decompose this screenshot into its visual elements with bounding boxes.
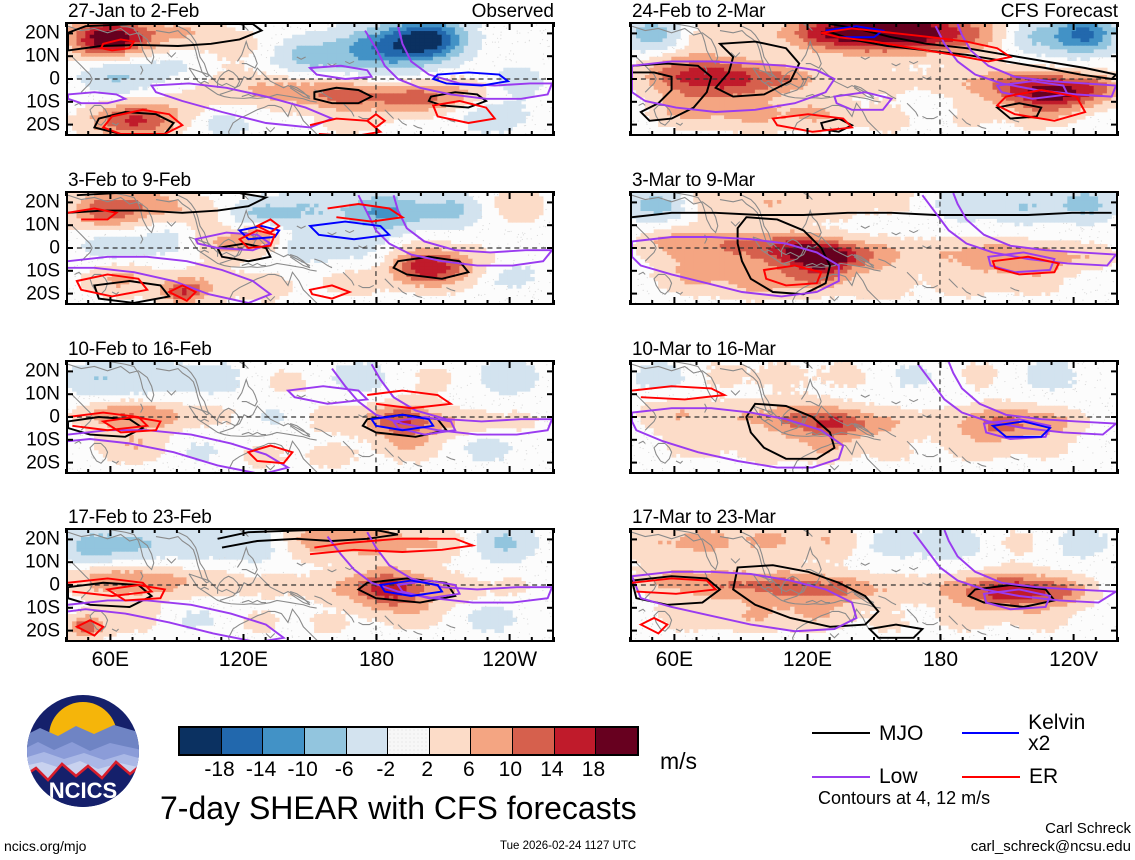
colorbar-swatch bbox=[555, 728, 597, 754]
map-panel: 10-Mar to 16-Mar bbox=[630, 360, 1118, 474]
y-axis-tick-label: 0 bbox=[2, 70, 60, 89]
x-axis-tick-label: 120E bbox=[219, 649, 268, 670]
map-plot-area bbox=[630, 360, 1118, 474]
legend-label: ER bbox=[1029, 766, 1058, 787]
map-plot-area bbox=[66, 360, 554, 474]
ncics-logo: NCICS bbox=[24, 692, 142, 810]
y-axis-tick-label: 0 bbox=[2, 408, 60, 427]
map-panel: 24-Feb to 2-MarCFS Forecast bbox=[630, 22, 1118, 136]
shear-field bbox=[68, 193, 552, 303]
y-axis-tick-label: 10N bbox=[2, 47, 60, 66]
legend-entry-er: ER bbox=[962, 766, 1112, 787]
colorbar-swatch bbox=[471, 728, 513, 754]
colorbar-swatch bbox=[388, 728, 430, 754]
colorbar-swatch bbox=[305, 728, 347, 754]
y-axis-tick-label: 20N bbox=[2, 530, 60, 549]
map-panel: 10-Feb to 16-Feb20N10N010S20S bbox=[66, 360, 554, 474]
author-email: carl_schreck@ncsu.edu bbox=[971, 838, 1131, 855]
panel-title: 10-Mar to 16-Mar bbox=[632, 339, 776, 361]
colorbar-tick-label: -10 bbox=[287, 758, 317, 782]
y-axis-tick-label: 0 bbox=[2, 576, 60, 595]
mjo-line-icon bbox=[812, 732, 870, 734]
colorbar-swatch bbox=[347, 728, 389, 754]
colorbar-swatch bbox=[513, 728, 555, 754]
x-axis-tick-label: 60E bbox=[92, 649, 129, 670]
y-axis-tick-label: 10S bbox=[2, 430, 60, 449]
y-axis-tick-label: 20N bbox=[2, 24, 60, 43]
map-plot-area bbox=[630, 22, 1118, 136]
colorbar-tick-label: -2 bbox=[376, 758, 395, 782]
map-panel: 27-Jan to 2-FebObserved20N10N010S20S bbox=[66, 22, 554, 136]
colorbar-tick-label: -6 bbox=[335, 758, 354, 782]
map-plot-area bbox=[66, 528, 554, 642]
y-axis-tick-label: 20N bbox=[2, 193, 60, 212]
colorbar-tick-label: 14 bbox=[540, 758, 563, 782]
map-plot-area bbox=[630, 191, 1118, 305]
colorbar-swatch bbox=[596, 728, 637, 754]
shear-field bbox=[632, 24, 1116, 134]
low-line-icon bbox=[812, 776, 870, 778]
colorbar-tick-label: -18 bbox=[204, 758, 234, 782]
legend-label: Low bbox=[879, 766, 918, 787]
y-axis-tick-label: 20S bbox=[2, 115, 60, 134]
shear-field bbox=[632, 362, 1116, 472]
y-axis-tick-label: 20S bbox=[2, 453, 60, 472]
panel-title: 17-Feb to 23-Feb bbox=[68, 507, 212, 529]
y-axis-tick-label: 20N bbox=[2, 362, 60, 381]
panel-title: 27-Jan to 2-Feb bbox=[68, 1, 199, 23]
y-axis-tick-label: 10N bbox=[2, 553, 60, 572]
panel-title: 3-Feb to 9-Feb bbox=[68, 170, 191, 192]
colorbar-tick-label: 18 bbox=[582, 758, 605, 782]
x-axis-tick-label: 120E bbox=[783, 649, 832, 670]
contour-note: Contours at 4, 12 m/s bbox=[818, 788, 990, 809]
legend-row: MJO Kelvin x2 bbox=[812, 712, 1112, 754]
map-plot-area bbox=[630, 528, 1118, 642]
x-axis-tick-label: 60E bbox=[656, 649, 693, 670]
y-axis-tick-label: 10S bbox=[2, 92, 60, 111]
panel-title: 24-Feb to 2-Mar bbox=[632, 1, 765, 23]
shear-field bbox=[68, 530, 552, 640]
panel-title: 10-Feb to 16-Feb bbox=[68, 339, 212, 361]
map-panel: 17-Mar to 23-Mar60E120E180120V bbox=[630, 528, 1118, 642]
legend-entry-mjo: MJO bbox=[812, 723, 962, 744]
column-header: Observed bbox=[472, 1, 554, 23]
colorbar-swatch bbox=[222, 728, 264, 754]
shear-field bbox=[68, 362, 552, 472]
colorbar-swatch bbox=[180, 728, 222, 754]
y-axis-tick-label: 0 bbox=[2, 239, 60, 258]
x-axis-tick-label: 120V bbox=[1049, 649, 1098, 670]
y-axis-tick-label: 10S bbox=[2, 598, 60, 617]
y-axis-tick-label: 20S bbox=[2, 284, 60, 303]
y-axis-tick-label: 10S bbox=[2, 261, 60, 280]
map-panel: 3-Feb to 9-Feb20N10N010S20S bbox=[66, 191, 554, 305]
legend-entry-low: Low bbox=[812, 766, 962, 787]
map-panel: 17-Feb to 23-Feb20N10N010S20S60E120E1801… bbox=[66, 528, 554, 642]
y-axis-tick-label: 20S bbox=[2, 621, 60, 640]
kelvin-line-icon bbox=[962, 732, 1019, 734]
x-axis-tick-label: 120W bbox=[482, 649, 537, 670]
colorbar-swatch bbox=[263, 728, 305, 754]
shear-field bbox=[68, 24, 552, 134]
legend-entry-kelvin: Kelvin x2 bbox=[962, 712, 1112, 754]
shear-field bbox=[632, 530, 1116, 640]
x-axis-tick-label: 180 bbox=[923, 649, 958, 670]
colorbar-tick-label: 6 bbox=[463, 758, 475, 782]
panel-title: 3-Mar to 9-Mar bbox=[632, 170, 755, 192]
column-header: CFS Forecast bbox=[1001, 1, 1118, 23]
map-panel: 3-Mar to 9-Mar bbox=[630, 191, 1118, 305]
author-name: Carl Schreck bbox=[1045, 820, 1131, 837]
y-axis-tick-label: 10N bbox=[2, 385, 60, 404]
er-line-icon bbox=[962, 776, 1020, 778]
y-axis-tick-label: 10N bbox=[2, 216, 60, 235]
colorbar-tick-label: -14 bbox=[246, 758, 276, 782]
legend-label: Kelvin x2 bbox=[1028, 712, 1112, 754]
legend-row: Low ER bbox=[812, 766, 1112, 787]
site-url: ncics.org/mjo bbox=[4, 838, 86, 854]
colorbar-tick-label: 10 bbox=[499, 758, 522, 782]
colorbar-tick-label: 2 bbox=[421, 758, 433, 782]
panel-title: 17-Mar to 23-Mar bbox=[632, 507, 776, 529]
page-title: 7-day SHEAR with CFS forecasts bbox=[160, 790, 637, 827]
colorbar-swatch bbox=[430, 728, 472, 754]
colorbar bbox=[178, 726, 639, 756]
legend-label: MJO bbox=[879, 723, 923, 744]
map-plot-area bbox=[66, 191, 554, 305]
shear-field bbox=[632, 193, 1116, 303]
x-axis-tick-label: 180 bbox=[359, 649, 394, 670]
timestamp: Tue 2026-02-24 1127 UTC bbox=[500, 840, 636, 852]
colorbar-units-label: m/s bbox=[660, 748, 697, 775]
contour-legend: MJO Kelvin x2 Low ER bbox=[812, 712, 1112, 799]
map-plot-area bbox=[66, 22, 554, 136]
